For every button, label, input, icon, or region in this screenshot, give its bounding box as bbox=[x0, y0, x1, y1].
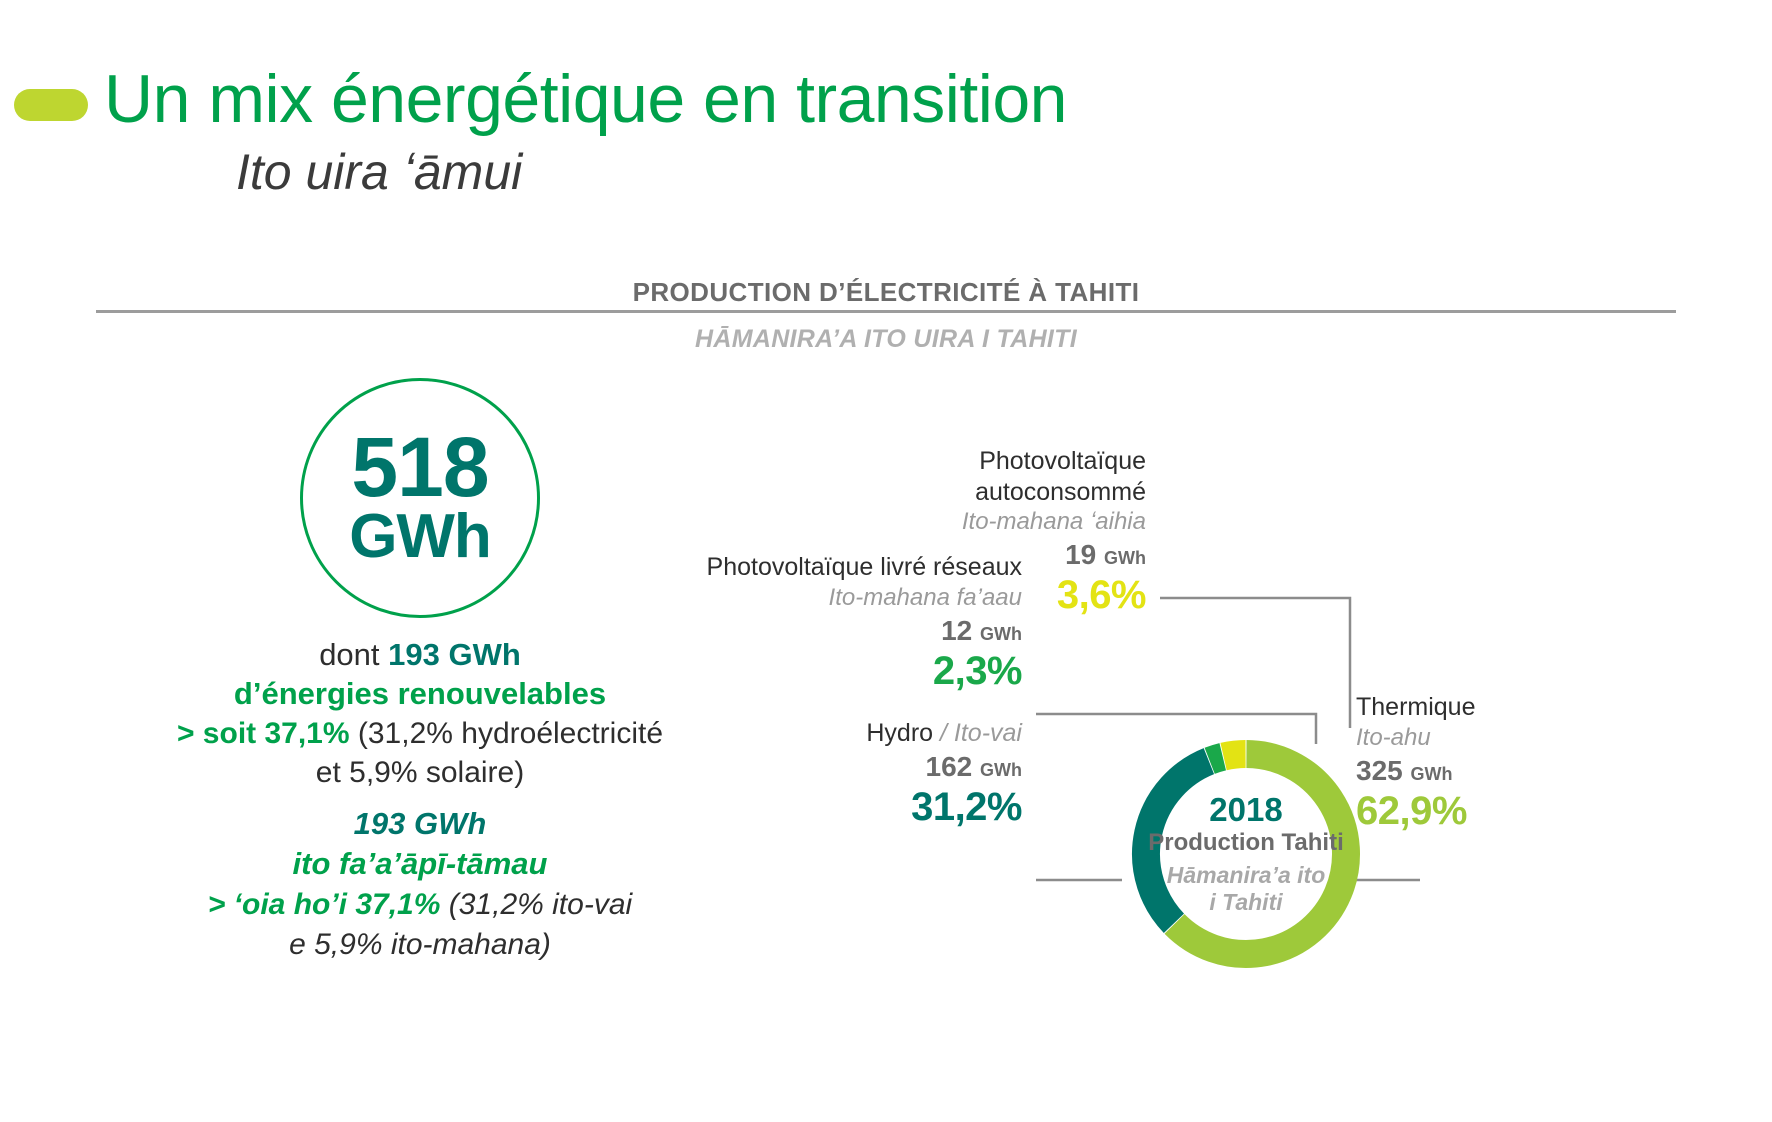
summary-ta-line3: > ‘oia ho’i 37,1% (31,2% ito-vai bbox=[110, 885, 730, 926]
callout-gwh-unit: GWh bbox=[1411, 764, 1453, 784]
callout-gwh: 12 GWh bbox=[706, 613, 1022, 649]
donut-chart: 2018 Production Tahiti Hāmanira’a ito i … bbox=[1118, 726, 1374, 982]
callout-percentage: 31,2% bbox=[700, 785, 1022, 830]
callout-thermique: Thermique Ito-ahu 325 GWh 62,9% bbox=[1356, 692, 1656, 834]
callout-name-fr: Photovoltaïque autoconsommé bbox=[806, 446, 1146, 507]
callout-hydro: Hydro / Ito-vai 162 GWh 31,2% bbox=[700, 718, 1022, 830]
total-production-circle: 518 GWh bbox=[300, 378, 540, 618]
summary-block-french: dont 193 GWh d’énergies renouvelables > … bbox=[110, 636, 730, 792]
callout-gwh-value: 12 bbox=[941, 615, 972, 646]
callout-name-fr-text: Hydro bbox=[866, 719, 933, 747]
callout-name-separator: / bbox=[933, 719, 954, 747]
title-marker-bar bbox=[14, 89, 88, 121]
summary-block-tahitian: 193 GWh ito fa’a’āpī-tāmau > ‘oia ho’i 3… bbox=[110, 804, 730, 966]
donut-center-label-ta-line1: Hāmanira’a ito bbox=[1167, 862, 1326, 889]
callout-name-ta: Ito-vai bbox=[954, 719, 1022, 747]
summary-fr-line1: dont 193 GWh bbox=[110, 636, 730, 675]
donut-center-label-ta-line2: i Tahiti bbox=[1167, 889, 1326, 916]
callout-name-ta: Ito-ahu bbox=[1356, 723, 1656, 753]
section-title: PRODUCTION D’ÉLECTRICITÉ À TAHITI bbox=[0, 277, 1772, 308]
summary-ta-line3-rest: (31,2% ito-vai bbox=[440, 888, 632, 921]
callout-gwh-unit: GWh bbox=[1104, 548, 1146, 568]
callout-name-fr: Hydro / Ito-vai bbox=[700, 718, 1022, 749]
callout-gwh: 162 GWh bbox=[700, 749, 1022, 785]
total-value: 518 bbox=[351, 428, 488, 507]
callout-gwh-value: 162 bbox=[926, 751, 973, 782]
callout-name-fr: Thermique bbox=[1356, 692, 1656, 723]
callout-percentage: 62,9% bbox=[1356, 789, 1656, 834]
callout-percentage: 2,3% bbox=[706, 649, 1022, 694]
summary-ta-line3-strong: > ‘oia ho’i 37,1% bbox=[208, 888, 441, 921]
page-title-tahitian: Ito uira ʻāmui bbox=[236, 143, 522, 201]
section-subtitle-tahitian: HĀMANIRA’A ITO UIRA I TAHITI bbox=[0, 325, 1772, 354]
section-divider bbox=[96, 310, 1676, 313]
donut-year: 2018 bbox=[1209, 792, 1282, 829]
summary-fr-line3-rest: (31,2% hydroélectricité bbox=[350, 717, 663, 750]
summary-ta-line4: e 5,9% ito-mahana) bbox=[110, 925, 730, 966]
callout-photovoltaique-livre-reseaux: Photovoltaïque livré réseaux Ito-mahana … bbox=[706, 552, 1022, 694]
callout-name-ta: Ito-mahana ʻaihia bbox=[806, 507, 1146, 537]
summary-fr-line1-strong: 193 GWh bbox=[388, 637, 521, 672]
callout-name-fr: Photovoltaïque livré réseaux bbox=[706, 552, 1022, 583]
callout-gwh: 325 GWh bbox=[1356, 753, 1656, 789]
summary-fr-line4: et 5,9% solaire) bbox=[110, 753, 730, 792]
callout-name-ta: Ito-mahana fa’aau bbox=[706, 583, 1022, 613]
infographic-canvas: Un mix énergétique en transition Ito uir… bbox=[0, 0, 1772, 1122]
total-unit: GWh bbox=[349, 506, 491, 568]
callout-gwh-unit: GWh bbox=[980, 760, 1022, 780]
summary-ta-line2: ito fa’a’āpī-tāmau bbox=[110, 844, 730, 884]
donut-center-label-fr: Production Tahiti bbox=[1148, 829, 1344, 858]
summary-fr-line3: > soit 37,1% (31,2% hydroélectricité bbox=[110, 714, 730, 753]
summary-fr-line1-prefix: dont bbox=[319, 637, 388, 672]
section-title-text: PRODUCTION D’ÉLECTRICITÉ À TAHITI bbox=[615, 277, 1158, 307]
page-title: Un mix énergétique en transition bbox=[104, 60, 1067, 138]
donut-center-label-ta: Hāmanira’a ito i Tahiti bbox=[1167, 862, 1326, 916]
summary-fr-line3-strong: > soit 37,1% bbox=[177, 717, 350, 750]
callout-gwh-value: 325 bbox=[1356, 755, 1403, 786]
summary-ta-line1: 193 GWh bbox=[110, 804, 730, 844]
callout-gwh-unit: GWh bbox=[980, 624, 1022, 644]
donut-center-label: 2018 Production Tahiti Hāmanira’a ito i … bbox=[1118, 726, 1374, 982]
callout-gwh-value: 19 bbox=[1065, 539, 1096, 570]
summary-fr-line2: d’énergies renouvelables bbox=[110, 675, 730, 714]
